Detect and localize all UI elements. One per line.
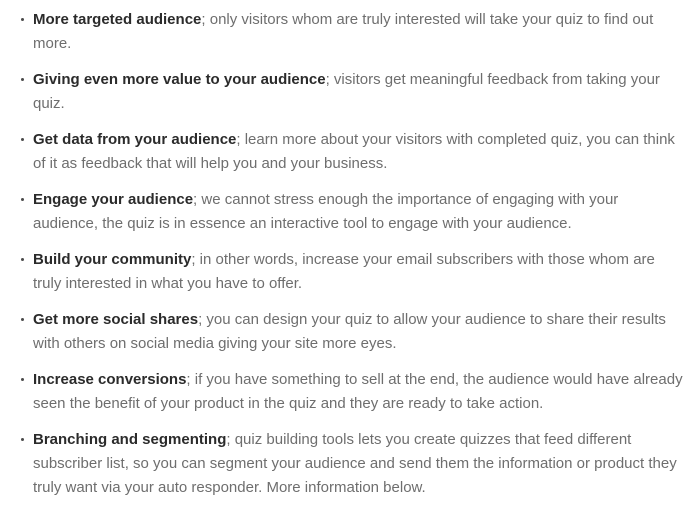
list-item: Get more social shares; you can design y…	[0, 308, 700, 356]
bullet-point-icon	[21, 438, 24, 441]
bullet-point-icon	[21, 258, 24, 261]
bullet-point-icon	[21, 18, 24, 21]
bullet-point-icon	[21, 318, 24, 321]
list-item-lead: Giving even more value to your audience	[33, 71, 326, 88]
list-item: Branching and segmenting; quiz building …	[0, 428, 700, 500]
list-item: Get data from your audience; learn more …	[0, 128, 700, 176]
list-item-lead: Increase conversions	[33, 371, 186, 388]
list-item-lead: Build your community	[33, 251, 191, 268]
bullet-point-icon	[21, 198, 24, 201]
list-item-lead: Get data from your audience	[33, 131, 236, 148]
bullet-point-icon	[21, 78, 24, 81]
benefits-list: More targeted audience; only visitors wh…	[0, 0, 700, 500]
list-item: Engage your audience; we cannot stress e…	[0, 188, 700, 236]
list-item: More targeted audience; only visitors wh…	[0, 8, 700, 56]
bullet-point-icon	[21, 138, 24, 141]
list-item: Increase conversions; if you have someth…	[0, 368, 700, 416]
list-item-lead: Branching and segmenting	[33, 431, 226, 448]
list-item-lead: Engage your audience	[33, 191, 193, 208]
list-item-lead: More targeted audience	[33, 11, 201, 28]
list-item: Giving even more value to your audience;…	[0, 68, 700, 116]
list-item-lead: Get more social shares	[33, 311, 198, 328]
bullet-point-icon	[21, 378, 24, 381]
list-item: Build your community; in other words, in…	[0, 248, 700, 296]
